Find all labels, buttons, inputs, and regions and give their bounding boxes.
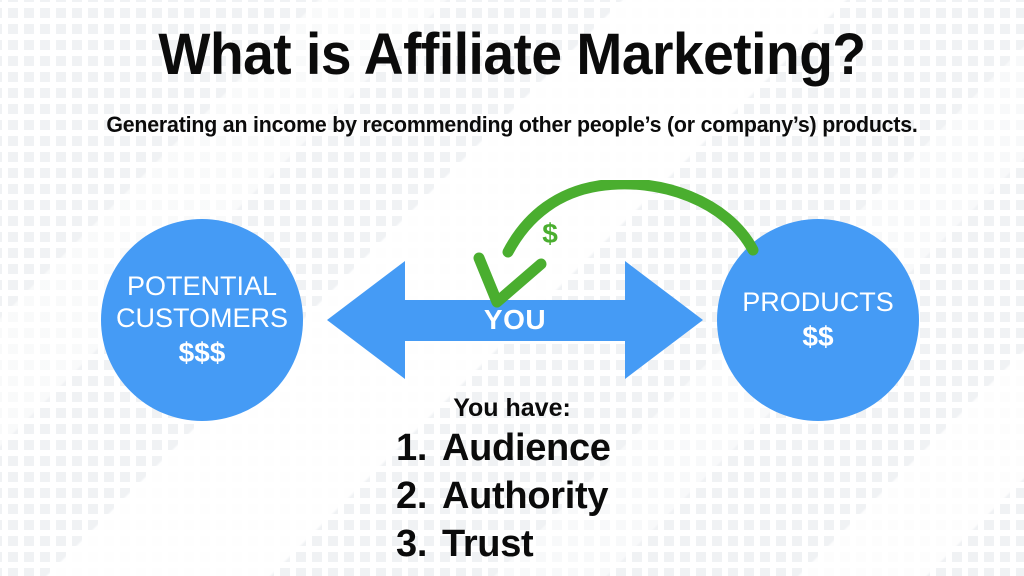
page-subtitle: Generating an income by recommending oth… — [15, 111, 1008, 139]
list-item-number: 2. — [396, 472, 442, 520]
benefits-list: 1. Audience 2. Authority 3. Trust — [396, 424, 611, 568]
list-item-number: 1. — [396, 424, 442, 472]
list-item: 3. Trust — [396, 520, 611, 568]
list-item-label: Trust — [442, 520, 533, 568]
list-item-label: Audience — [442, 424, 611, 472]
list-item: 1. Audience — [396, 424, 611, 472]
page-title: What is Affiliate Marketing? — [26, 24, 999, 86]
potential-customers-label: POTENTIAL CUSTOMERS — [116, 270, 288, 334]
dollar-sign-icon: $ — [532, 219, 568, 249]
slide-canvas: What is Affiliate Marketing? Generating … — [0, 0, 1024, 576]
potential-customers-money: $$$ — [179, 336, 226, 370]
list-item-label: Authority — [442, 472, 608, 520]
list-item: 2. Authority — [396, 472, 611, 520]
money-flow-arrow-icon — [470, 180, 770, 315]
benefits-heading: You have: — [312, 393, 712, 423]
diagram-node-potential-customers: POTENTIAL CUSTOMERS $$$ — [101, 219, 303, 421]
list-item-number: 3. — [396, 520, 442, 568]
products-money: $$ — [802, 320, 833, 354]
